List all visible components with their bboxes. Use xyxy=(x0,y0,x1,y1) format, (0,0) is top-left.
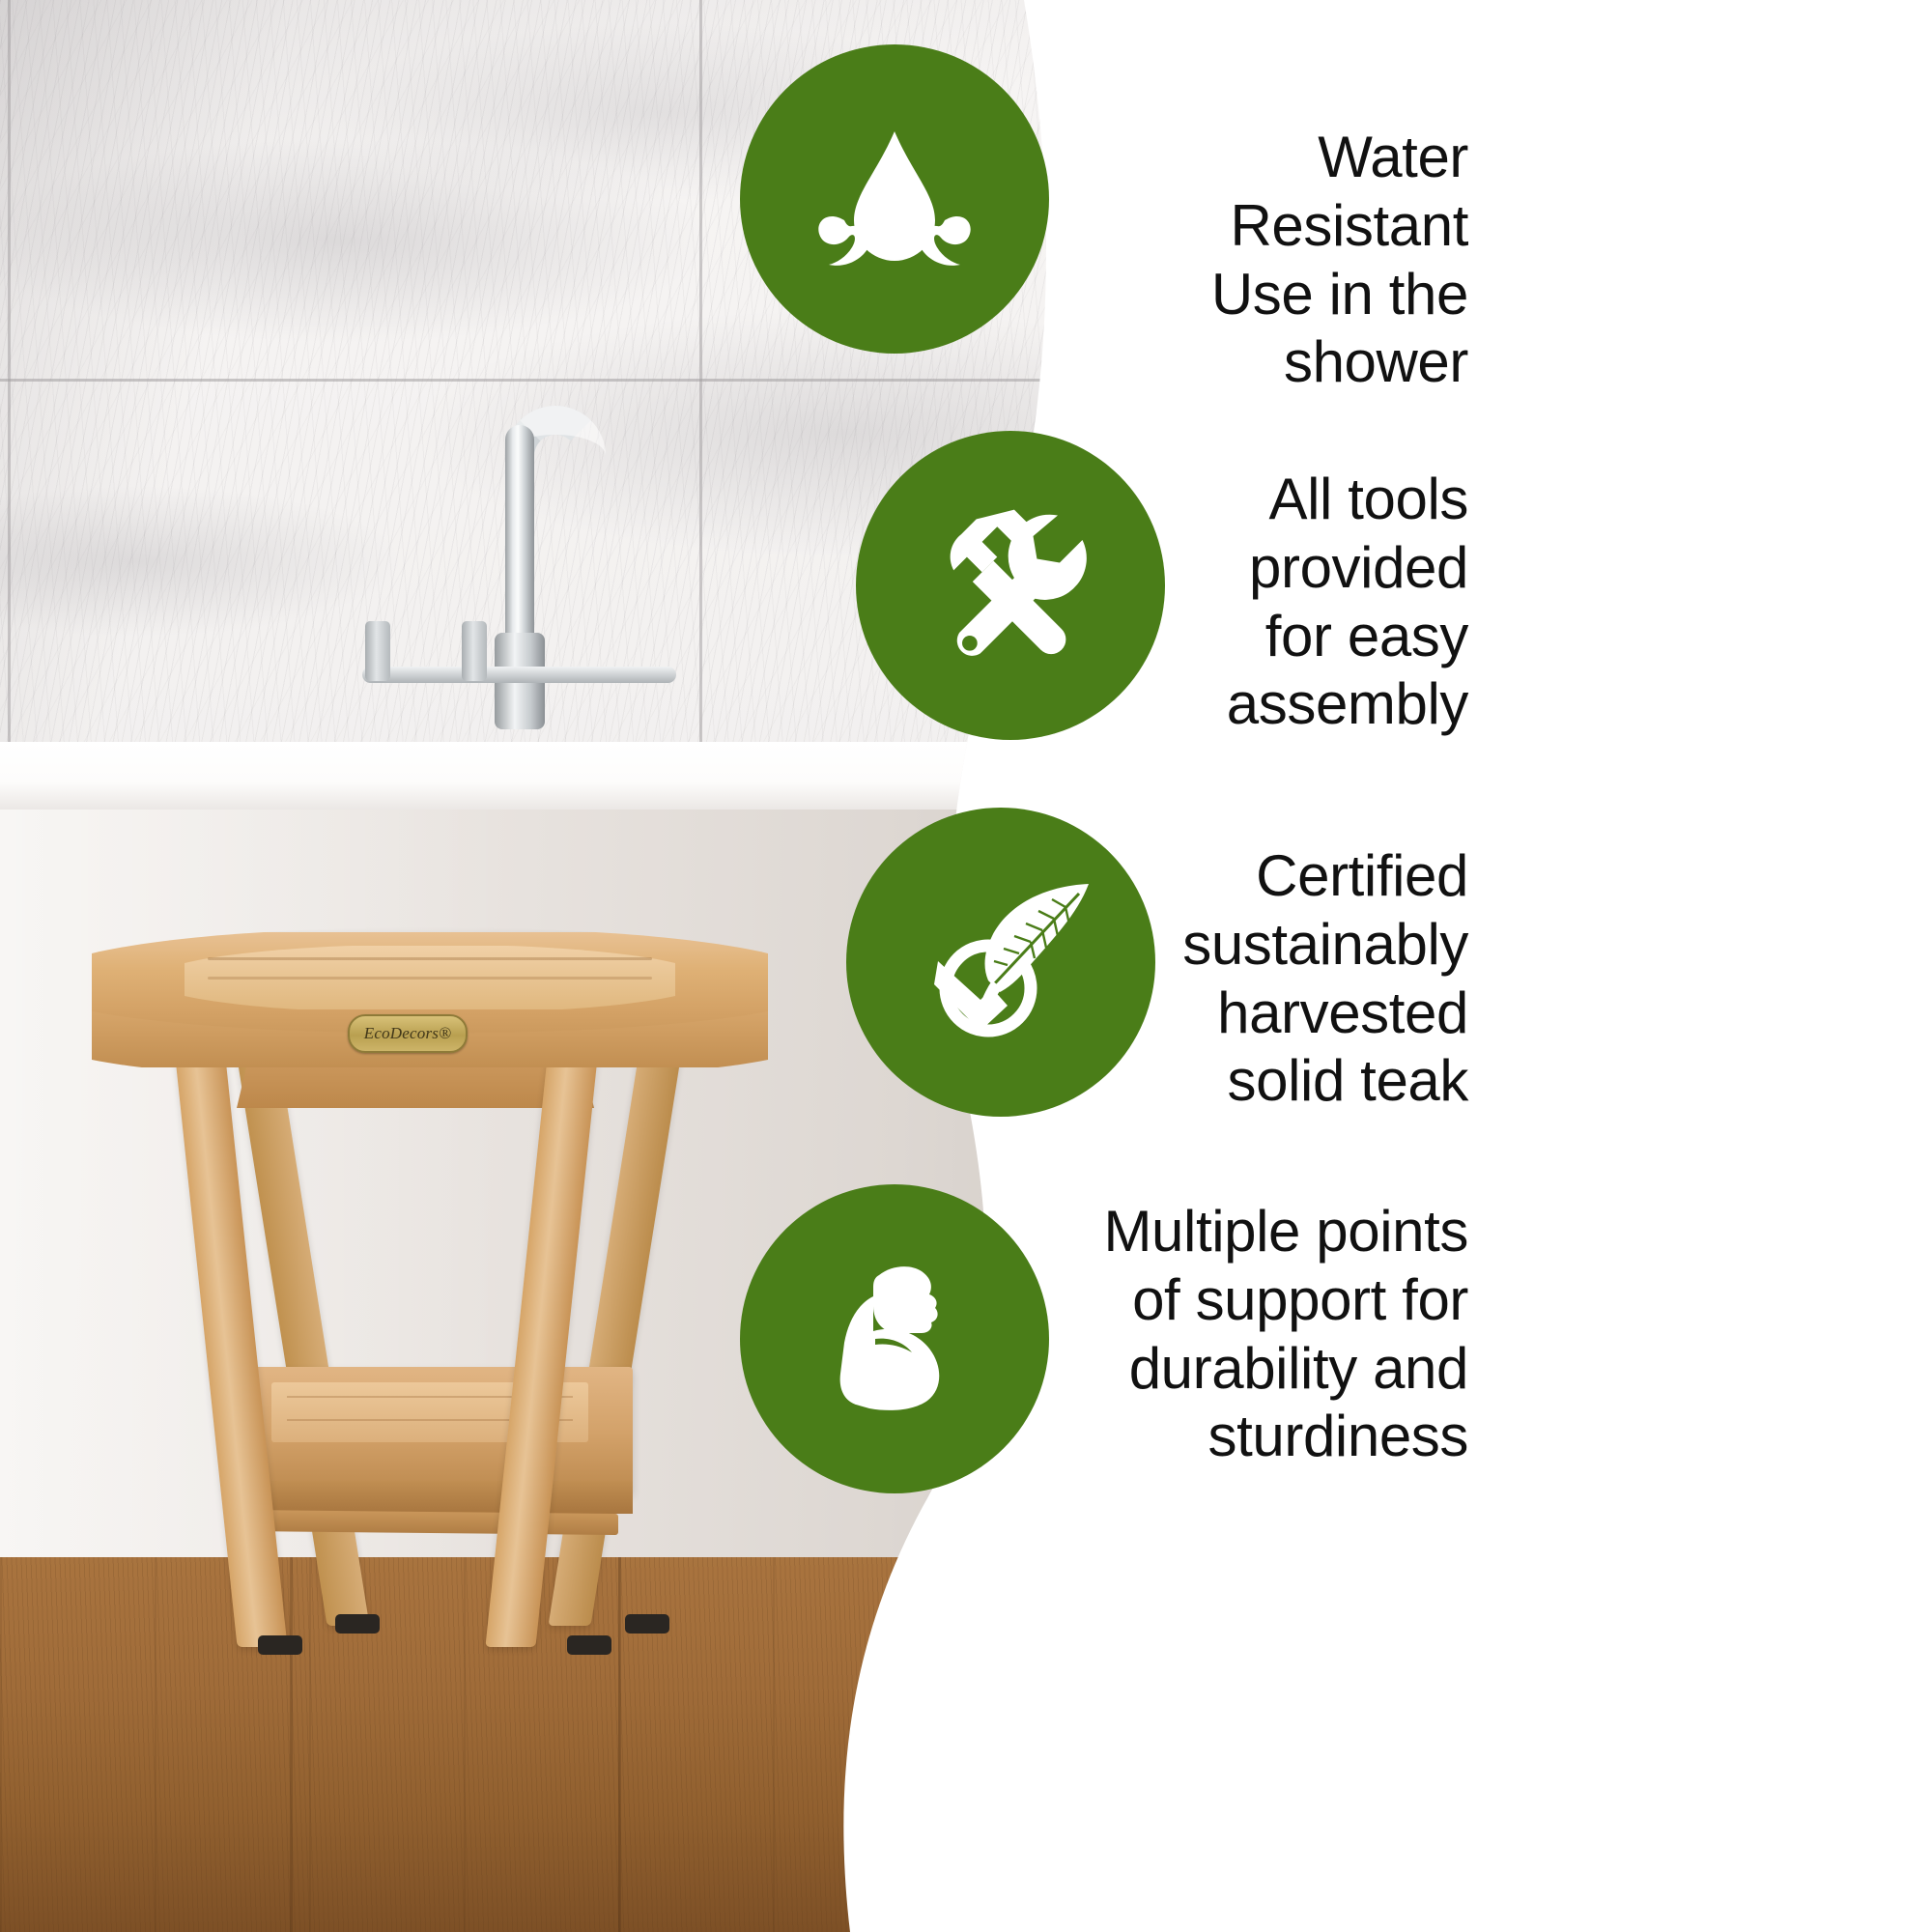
feature-badge-sustainable-teak xyxy=(846,808,1155,1117)
feature-badge-water-resistant xyxy=(740,44,1049,354)
teak-shower-stool: EcoDecors® xyxy=(92,932,768,1734)
faucet-handle-left xyxy=(365,621,390,681)
faucet-handle-right xyxy=(462,621,487,681)
leaf-check-icon xyxy=(899,861,1102,1064)
hammer-wrench-icon xyxy=(916,491,1105,680)
stool-shelf xyxy=(227,1367,633,1492)
feature-text-durable-support: Multiple points of support for durabilit… xyxy=(1053,1198,1468,1471)
stool-seat-groove xyxy=(208,957,652,960)
faucet-spout xyxy=(505,425,534,647)
tile-grout-line xyxy=(699,0,702,802)
stool-foot-pad xyxy=(567,1635,611,1655)
feature-badge-durable-support xyxy=(740,1184,1049,1493)
flexed-bicep-icon xyxy=(798,1242,991,1435)
tile-grout-line xyxy=(0,379,1140,382)
tile-grout-line xyxy=(8,0,11,802)
stool-seat-groove xyxy=(208,977,652,980)
bathtub-rim xyxy=(0,742,1140,815)
water-drop-splash-icon xyxy=(798,102,991,296)
infographic-canvas: EcoDecors® Water Resistant Use in the sh… xyxy=(0,0,1932,1932)
stool-shelf-front-edge xyxy=(227,1481,633,1514)
feature-text-water-resistant: Water Resistant Use in the shower xyxy=(1082,124,1468,397)
feature-text-tools-included: All tools provided for easy assembly xyxy=(1198,466,1468,739)
stool-foot-pad xyxy=(258,1635,302,1655)
brand-plaque: EcoDecors® xyxy=(348,1014,468,1053)
stool-foot-pad xyxy=(335,1614,380,1634)
stool-foot-pad xyxy=(625,1614,669,1634)
faucet-handle-bar xyxy=(362,667,676,683)
stool-cross-brace xyxy=(241,1510,618,1535)
feature-badge-tools-included xyxy=(856,431,1165,740)
feature-text-sustainable-teak: Certified sustainably harvested solid te… xyxy=(1159,842,1468,1116)
